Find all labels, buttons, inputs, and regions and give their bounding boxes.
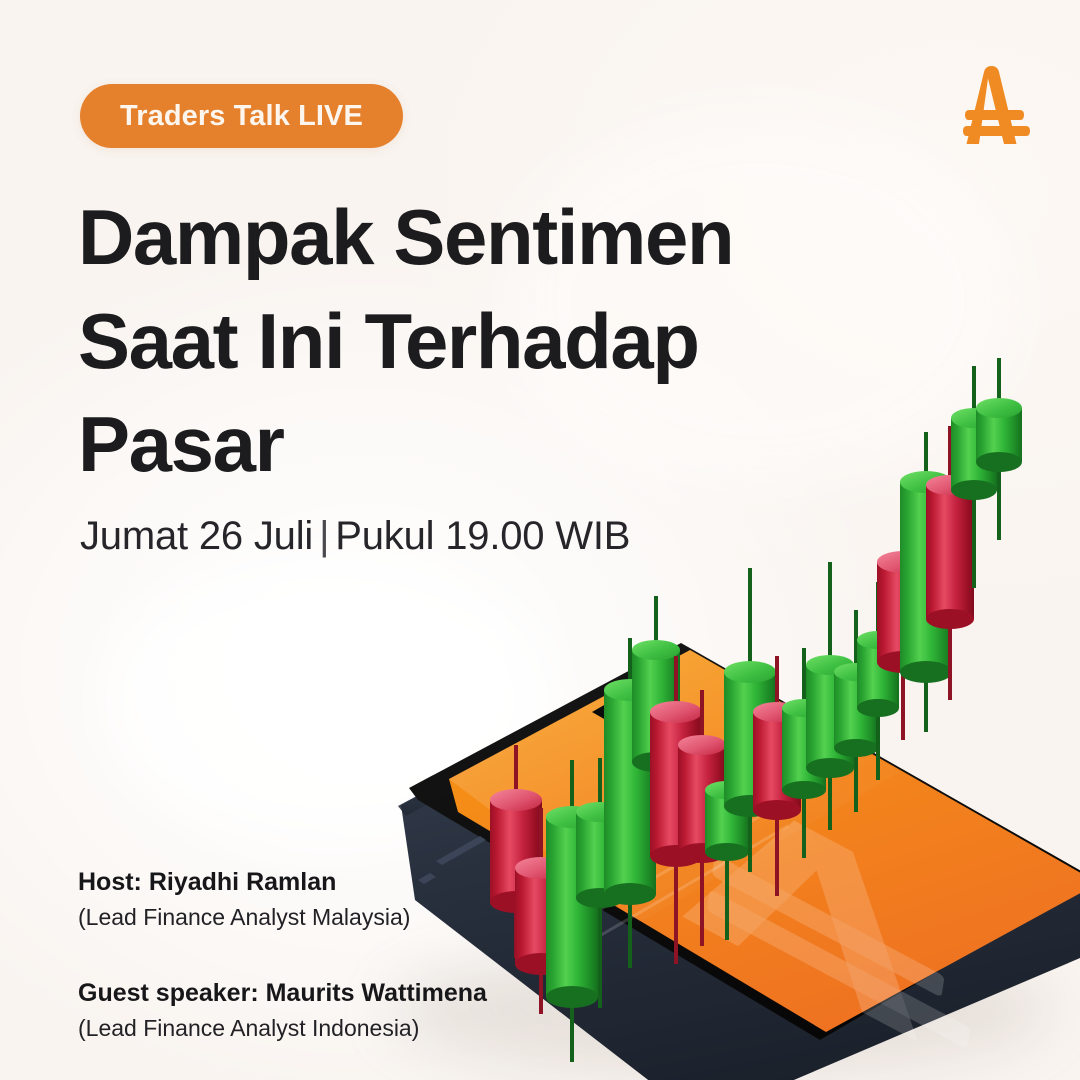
phone-3d xyxy=(390,643,1080,1080)
candle-11 xyxy=(753,656,801,896)
candle-14 xyxy=(834,610,878,812)
host-name: Host: Riyadhi Ramlan xyxy=(78,866,487,899)
event-time: Pukul 19.00 WIB xyxy=(335,514,630,558)
event-datetime: Jumat 26 Juli|Pukul 19.00 WIB xyxy=(80,514,630,559)
candle-17 xyxy=(900,432,952,732)
candle-5 xyxy=(604,638,656,968)
credits-block: Host: Riyadhi Ramlan (Lead Finance Analy… xyxy=(78,866,487,1044)
octa-a-logo-icon xyxy=(936,58,1036,158)
phone-screen xyxy=(449,650,1080,1032)
guest-speaker-credit: Guest speaker: Maurits Wattimena (Lead F… xyxy=(78,977,487,1044)
live-badge-label: Traders Talk LIVE xyxy=(120,100,363,133)
guest-speaker-name: Guest speaker: Maurits Wattimena xyxy=(78,977,487,1010)
candle-2 xyxy=(515,808,567,1014)
screen-watermark-a-logo xyxy=(682,773,986,1067)
candle-8 xyxy=(678,690,726,946)
phone-side xyxy=(401,660,1080,1080)
phone-earpiece xyxy=(604,687,654,716)
candle-15 xyxy=(857,582,899,780)
host-role: (Lead Finance Analyst Malaysia) xyxy=(78,902,487,933)
candle-16 xyxy=(877,502,929,740)
candle-10 xyxy=(724,568,776,872)
headline-line-1: Dampak Sentimen xyxy=(78,186,838,290)
phone-bezel xyxy=(409,643,1080,1040)
candle-13 xyxy=(806,562,854,830)
phone-volume-button xyxy=(436,836,486,865)
candle-4 xyxy=(576,758,624,1008)
poster-canvas: Traders Talk LIVE Dampak Sentimen Saat I… xyxy=(0,0,1080,1080)
candle-12 xyxy=(782,648,826,858)
phone-notch xyxy=(592,681,672,727)
candle-3 xyxy=(546,760,598,1062)
screen-stripes xyxy=(520,654,1054,966)
guest-speaker-role: (Lead Finance Analyst Indonesia) xyxy=(78,1013,487,1044)
candle-20 xyxy=(976,358,1022,540)
headline-line-3: Pasar xyxy=(78,393,838,497)
host-credit: Host: Riyadhi Ramlan (Lead Finance Analy… xyxy=(78,866,487,933)
candle-1 xyxy=(490,745,542,958)
candle-9 xyxy=(705,740,749,940)
headline-line-2: Saat Ini Terhadap xyxy=(78,290,838,394)
page-title: Dampak Sentimen Saat Ini Terhadap Pasar xyxy=(78,186,838,497)
datetime-separator: | xyxy=(313,514,335,558)
candle-7 xyxy=(650,656,702,964)
event-date: Jumat 26 Juli xyxy=(80,514,313,558)
live-badge[interactable]: Traders Talk LIVE xyxy=(80,84,403,148)
screen-sheen xyxy=(449,650,900,922)
candle-19 xyxy=(951,366,997,588)
candle-18 xyxy=(926,426,974,700)
candle-6 xyxy=(632,596,680,848)
